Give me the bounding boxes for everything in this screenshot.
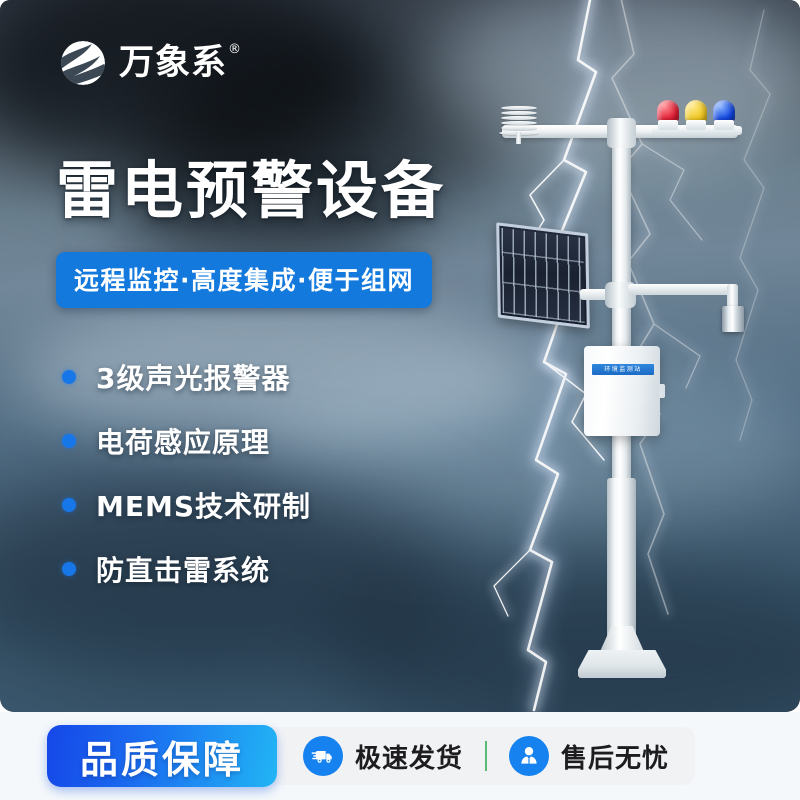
control-box-label: 环境监测站: [592, 364, 654, 375]
service-label: 售后无忧: [561, 738, 669, 775]
list-item: 3级声光报警器: [62, 345, 311, 409]
service-fast-shipping[interactable]: 极速发货: [303, 736, 463, 776]
service-after-sales[interactable]: 售后无忧: [509, 736, 669, 776]
alarm-lamp-red: [657, 100, 679, 130]
feature-list: 3级声光报警器 电荷感应原理 MEMS技术研制 防直击雷系统: [62, 345, 311, 601]
hero-photo: 环境监测站 万象系: [0, 0, 800, 712]
service-label: 极速发货: [355, 738, 463, 775]
brand-name: 万象系 ®: [119, 46, 227, 81]
crossarm-hub: [607, 118, 636, 148]
radiation-shield-icon: [498, 106, 540, 136]
feature-label: MEMS技术研制: [96, 485, 311, 525]
control-box: [584, 346, 660, 436]
subtitle-banner: 远程监控·高度集成·便于组网: [56, 252, 432, 308]
pole-base-plate: [578, 650, 666, 678]
quality-guarantee-badge[interactable]: 品质保障: [47, 725, 277, 787]
brand-logo: 万象系 ®: [58, 38, 227, 88]
alarm-lamp-blue: [713, 100, 735, 130]
list-item: MEMS技术研制: [62, 473, 311, 537]
bullet-dot-icon: [62, 562, 76, 576]
service-divider: [485, 741, 487, 771]
list-item: 电荷感应原理: [62, 409, 311, 473]
delivery-truck-icon: [303, 736, 343, 776]
service-pill: 极速发货 售后无忧: [263, 727, 695, 785]
sensor-arm: [628, 284, 738, 295]
solar-panel: [496, 222, 590, 329]
feature-label: 防直击雷系统: [96, 549, 270, 589]
list-item: 防直击雷系统: [62, 537, 311, 601]
page-title: 雷电预警设备: [56, 158, 446, 224]
trust-bar: 品质保障: [0, 712, 800, 800]
bullet-dot-icon: [62, 498, 76, 512]
brand-name-text: 万象系: [119, 43, 227, 83]
feature-label: 电荷感应原理: [96, 421, 270, 461]
bullet-dot-icon: [62, 370, 76, 384]
registered-mark: ®: [228, 43, 242, 56]
alarm-lamp-yellow: [685, 100, 707, 130]
customer-service-person-icon: [509, 736, 549, 776]
poster-root: 环境监测站 万象系: [0, 0, 800, 800]
quality-badge-label: 品质保障: [80, 729, 244, 784]
feature-label: 3级声光报警器: [96, 357, 290, 397]
circle-swoosh-logo-icon: [58, 38, 108, 88]
bullet-dot-icon: [62, 434, 76, 448]
sensor-cylinder: [722, 306, 744, 332]
